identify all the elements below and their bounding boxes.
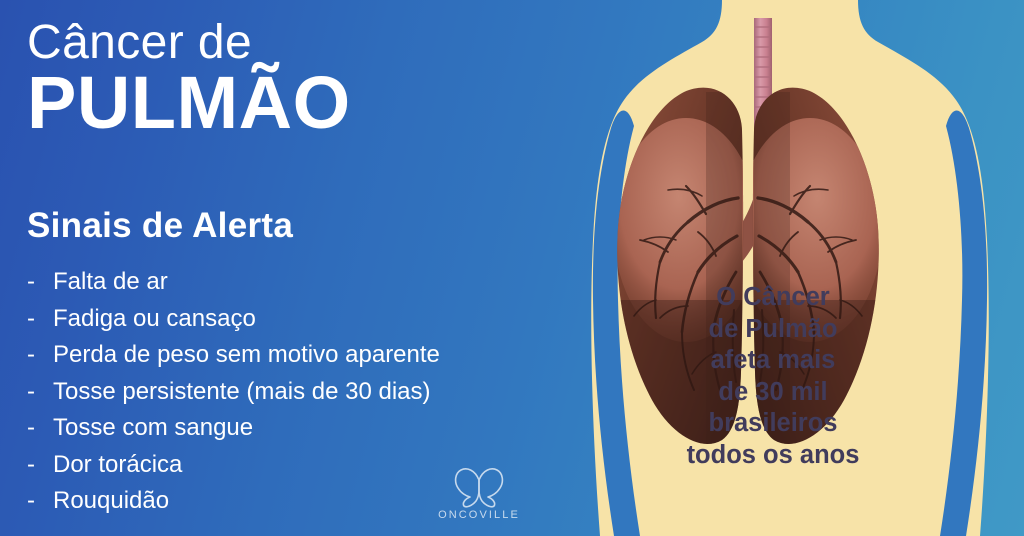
butterfly-icon: [451, 466, 507, 508]
bullet-dash-icon: -: [27, 453, 53, 477]
bullet-dash-icon: -: [27, 489, 53, 513]
lung-cancer-infographic: O Câncer de Pulmão afeta mais de 30 mil …: [0, 0, 1024, 536]
list-item: - Fadiga ou cansaço: [27, 307, 560, 331]
statistic-line: de Pulmão: [663, 314, 883, 346]
list-item-label: Tosse persistente (mais de 30 dias): [53, 380, 431, 404]
list-item-label: Dor torácica: [53, 453, 182, 477]
statistic-line: O Câncer: [663, 282, 883, 314]
statistic-line: afeta mais: [663, 345, 883, 377]
page-title-line-2: PULMÃO: [27, 66, 560, 140]
bullet-dash-icon: -: [27, 343, 53, 367]
bullet-dash-icon: -: [27, 416, 53, 440]
list-item: - Tosse com sangue: [27, 416, 560, 440]
list-item: - Perda de peso sem motivo aparente: [27, 343, 560, 367]
list-item: - Tosse persistente (mais de 30 dias): [27, 380, 560, 404]
bullet-dash-icon: -: [27, 380, 53, 404]
text-column: Câncer de PULMÃO Sinais de Alerta - Falt…: [0, 0, 560, 536]
statistic-line: todos os anos: [663, 440, 883, 472]
bullet-dash-icon: -: [27, 307, 53, 331]
list-item-label: Tosse com sangue: [53, 416, 253, 440]
list-item-label: Perda de peso sem motivo aparente: [53, 343, 440, 367]
section-heading: Sinais de Alerta: [27, 206, 560, 246]
logo-wordmark: ONCOVILLE: [432, 509, 526, 521]
statistic-line: brasileiros: [663, 408, 883, 440]
list-item-label: Fadiga ou cansaço: [53, 307, 256, 331]
bullet-dash-icon: -: [27, 270, 53, 294]
oncoville-logo: ONCOVILLE: [432, 466, 526, 521]
statistic-line: de 30 mil: [663, 377, 883, 409]
statistic-text: O Câncer de Pulmão afeta mais de 30 mil …: [663, 282, 883, 472]
list-item-label: Rouquidão: [53, 489, 169, 513]
list-item: - Falta de ar: [27, 270, 560, 294]
list-item-label: Falta de ar: [53, 270, 168, 294]
